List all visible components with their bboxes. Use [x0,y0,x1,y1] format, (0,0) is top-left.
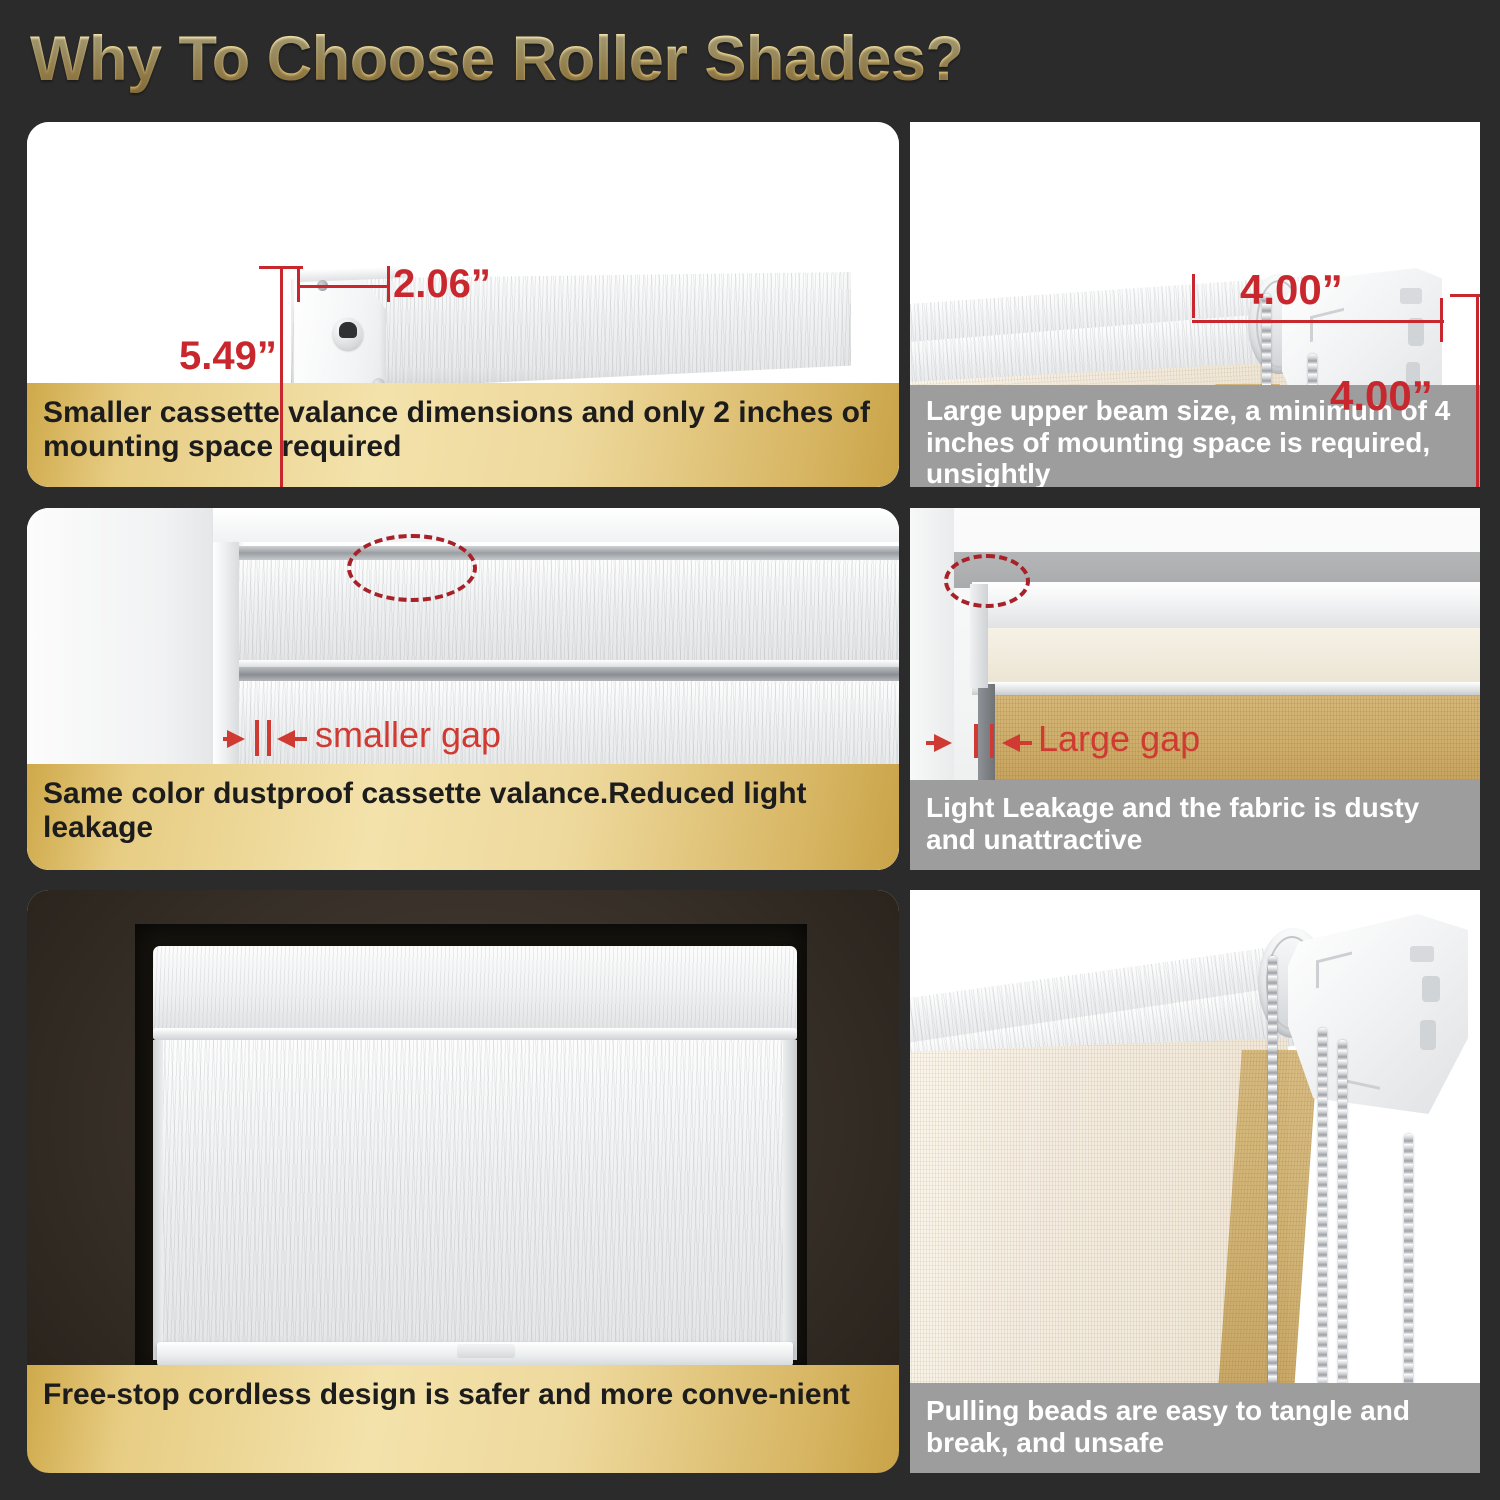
shade-fabric-band-1 [239,560,899,665]
gap-highlight-ellipse [347,534,477,602]
panel-large-beam: 4.00” 4.00” Large upper beam size, a min… [910,122,1480,487]
bead-chain-4 [1404,1134,1413,1390]
width-dim-line [297,285,389,288]
panel-large-gap: Large gap Light Leakage and the fabric i… [910,508,1480,870]
cassette-lip [153,1028,797,1040]
gap-tick-2 [267,720,271,756]
gap-label-smaller: smaller gap [315,714,501,756]
cassette-headrail-front [153,946,797,1034]
panel-5-caption-text: Free-stop cordless design is safer and m… [43,1378,850,1412]
gap-arrow-left-stem [223,737,231,741]
gap-tick-1 [255,720,259,756]
panel-1-caption-text: Smaller cassette valance dimensions and … [43,396,883,464]
shade-side-channel-right [783,1040,797,1360]
panel-3-caption: Same color dustproof cassette valance.Re… [27,764,899,870]
shade-fabric-seam [239,660,899,667]
beam-height-line [1476,294,1479,487]
gap-arrow-right-icon [934,734,952,752]
panel-3-caption-text: Same color dustproof cassette valance.Re… [43,777,883,845]
panel-4-caption: Light Leakage and the fabric is dusty an… [910,780,1480,870]
gap-highlight-ellipse [944,554,1030,608]
panel-pulling-beads: Pulling beads are easy to tangle and bre… [910,890,1480,1473]
beam-width-tick-right [1440,298,1443,342]
panel-6-caption: Pulling beads are easy to tangle and bre… [910,1383,1480,1473]
gap-tick-2 [990,724,994,758]
cassette-headrail [239,546,899,560]
page-title: Why To Choose Roller Shades? [30,18,1060,100]
gap-arrow-left-stem [926,741,936,745]
width-dim-tick-right [387,266,390,302]
height-dim-label: 5.49” [179,334,277,379]
panel-5-caption: Free-stop cordless design is safer and m… [27,1365,899,1473]
beam-width-label: 4.00” [1240,266,1343,314]
bead-chain-1 [1268,956,1277,1390]
beam-width-tick-left [1192,274,1195,318]
panel-1-caption: Smaller cassette valance dimensions and … [27,383,899,487]
window-frame-top [213,508,899,542]
page-title-text: Why To Choose Roller Shades? [30,23,963,95]
bottom-rail-grip [457,1344,515,1358]
bracket-slot-b [1422,976,1440,1002]
bracket-slot-c [1420,1020,1436,1050]
beam-fabric-cream [972,628,1480,684]
gap-arrow-left-icon [1002,734,1020,752]
panel-cordless-design: Free-stop cordless design is safer and m… [27,890,899,1473]
panel-cassette-dimensions: 2.06” 5.49” Smaller cassette valance dim… [27,122,899,487]
bracket-slot-1 [1400,288,1422,304]
shade-side-channel-left [153,1040,163,1360]
panel-4-caption-text: Light Leakage and the fabric is dusty an… [926,792,1464,855]
shade-fabric-lower [161,1040,789,1360]
panel-6-caption-text: Pulling beads are easy to tangle and bre… [926,1395,1464,1458]
shade-bottom-rail [239,667,899,681]
window-frame-left [27,508,223,788]
height-dim-line [280,266,283,487]
cassette-knob-slot [339,322,357,338]
gap-arrow-right-stem [1020,741,1032,745]
gap-label-large: Large gap [1038,718,1200,760]
bead-chain-3 [1338,1040,1347,1390]
width-dim-tick-left [297,266,300,302]
gap-arrow-right-stem [295,737,307,741]
width-dim-label: 2.06” [393,262,491,307]
gap-arrow-left-icon [277,730,295,748]
beam-valance [972,582,1480,634]
panel-smaller-gap: smaller gap Same color dustproof cassett… [27,508,899,870]
gap-tick-1 [974,724,978,758]
beam-lower-lip [972,682,1480,695]
bead-chain-2 [1318,1028,1327,1390]
bracket-slot-a [1410,946,1434,962]
beam-width-line [1192,320,1444,323]
beam-height-label: 4.00” [1330,372,1433,420]
